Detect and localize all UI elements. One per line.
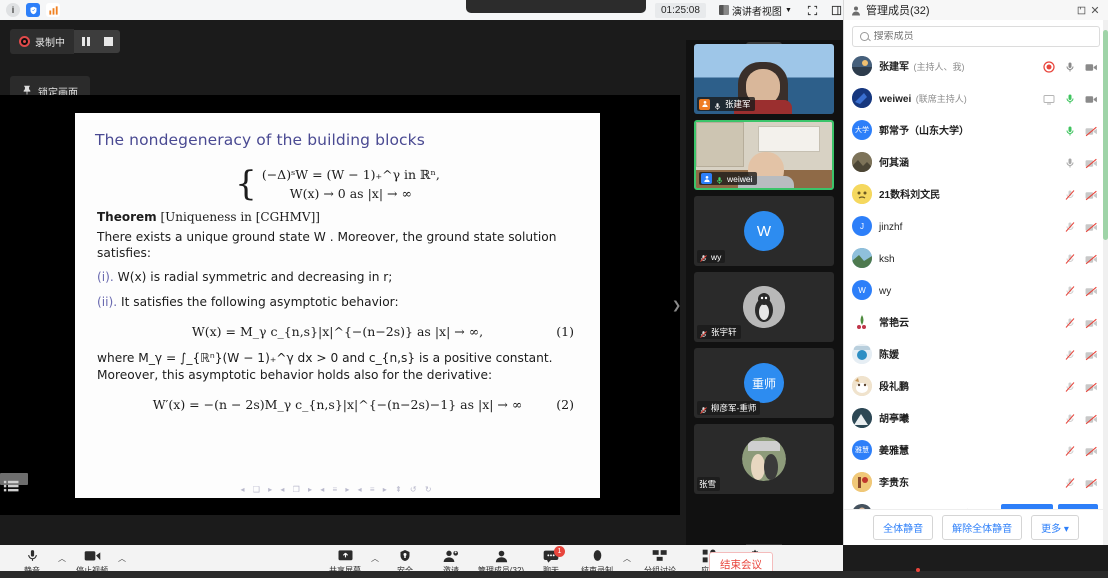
participants-scrollbar[interactable] <box>1103 20 1108 545</box>
record-dot-icon <box>1043 60 1056 73</box>
camera-on-icon[interactable] <box>1085 60 1098 73</box>
recording-options-chevron-up-icon[interactable]: ︿ <box>621 553 633 564</box>
system-equation: { (−Δ)ˢW = (W − 1)₊^γ in ℝⁿ, W(x) → 0 as… <box>97 166 578 204</box>
equation-1-tag: (1) <box>556 323 574 341</box>
theorem-item-1: (i). W(x) is radial symmetric and decrea… <box>97 269 578 287</box>
avatar <box>852 152 872 172</box>
participant-name: ksh <box>879 254 895 265</box>
mic-green-icon[interactable] <box>1064 124 1077 137</box>
camera-off-icon[interactable] <box>1085 348 1098 361</box>
video-thumb-4[interactable]: 重师 柳彦军-重师 <box>694 348 834 418</box>
thumb-label-1: weiwei <box>699 172 757 185</box>
camera-off-icon[interactable] <box>1085 124 1098 137</box>
participant-role: (联席主持人) <box>916 94 967 104</box>
info-icon[interactable]: i <box>6 3 20 17</box>
avatar <box>852 504 872 509</box>
table-row[interactable]: W wy <box>844 274 1108 306</box>
thumb-name-3: 张宇轩 <box>711 326 737 338</box>
thumb-label-4: 柳彦军-重师 <box>697 401 760 415</box>
video-thumb-1[interactable]: weiwei <box>694 120 834 190</box>
table-row[interactable]: 常艳云 <box>844 306 1108 338</box>
camera-off-icon[interactable] <box>1085 188 1098 201</box>
recording-status: 录制中 <box>10 29 74 54</box>
breakout-icon <box>652 548 668 564</box>
table-row[interactable]: 李勇勇(西北师范大学) 解除静音 更多 ▾ <box>844 498 1108 509</box>
participant-name-block: 段礼鹏 <box>879 377 1057 395</box>
camera-off-icon[interactable] <box>1085 444 1098 457</box>
pause-recording-button[interactable] <box>74 30 97 53</box>
item-2-marker: (ii). <box>97 295 117 309</box>
item-1-marker: (i). <box>97 270 114 284</box>
mic-off-icon[interactable] <box>1064 252 1077 265</box>
participant-name: 常艳云 <box>879 318 909 329</box>
layout-view-icon <box>719 5 729 15</box>
video-filmstrip: ︿ 张建军 <box>694 44 834 554</box>
mic-off-icon[interactable] <box>1064 220 1077 233</box>
share-screen-icon <box>337 548 354 564</box>
equation-1-row: W(x) = M_γ c_{n,s}|x|^{−(n−2s)} as |x| →… <box>97 323 578 341</box>
participants-icon <box>850 4 862 16</box>
participants-panel: 张建军 (主持人、我) weiwei (联席主持人) <box>843 20 1108 545</box>
avatar: J <box>852 216 872 236</box>
table-row[interactable]: J jinzhf <box>844 210 1108 242</box>
panel-more-label: 更多 <box>1041 524 1061 535</box>
share-screen-icon <box>1043 92 1056 105</box>
mic-off-icon <box>699 403 708 414</box>
search-wrapper <box>844 20 1108 50</box>
participant-name: 陈媛 <box>879 350 899 361</box>
table-row[interactable]: ksh <box>844 242 1108 274</box>
participant-name: 何其涵 <box>879 158 909 169</box>
participant-name-block: 陈媛 <box>879 345 1057 363</box>
mic-off-icon[interactable] <box>1064 188 1077 201</box>
cohost-badge-icon <box>701 173 712 184</box>
participant-name: 李贵东 <box>879 478 909 489</box>
chevron-down-icon: ▼ <box>785 7 792 14</box>
avatar <box>852 472 872 492</box>
table-row[interactable]: 何其涵 <box>844 146 1108 178</box>
unmute-button[interactable]: 解除静音 <box>1001 504 1053 509</box>
table-row[interactable]: 胡亭曦 <box>844 402 1108 434</box>
brace-icon: { <box>235 171 257 198</box>
table-row[interactable]: 大学 郭常予（山东大学） <box>844 114 1108 146</box>
thumb-avatar-4: 重师 <box>744 363 784 403</box>
mic-off-icon[interactable] <box>1064 476 1077 489</box>
participant-name: wy <box>879 286 891 297</box>
participant-icons <box>1043 60 1098 73</box>
outline-list-icon[interactable] <box>2 480 24 494</box>
browser-icon-group: i <box>0 3 60 17</box>
participant-name-block: 胡亭曦 <box>879 409 1057 427</box>
meeting-main-area: 录制中 锁定画面 The nondegeneracy of the buildi… <box>0 20 843 545</box>
participant-name: weiwei <box>879 94 911 105</box>
record-stop-icon <box>591 548 604 564</box>
recording-control-bar: 录制中 <box>10 29 120 54</box>
popout-icon[interactable] <box>1074 3 1088 17</box>
participant-name: jinzhf <box>879 222 902 233</box>
avatar <box>852 408 872 428</box>
camera-off-icon[interactable] <box>1085 380 1098 393</box>
theorem-heading: Theorem [Uniqueness in [CGHMV]] <box>97 209 578 226</box>
participant-icons <box>1064 188 1098 201</box>
avatar <box>852 248 872 268</box>
participants-panel-header: 管理成员(32) ✕ <box>843 0 1108 20</box>
table-row[interactable]: 李贵东 <box>844 466 1108 498</box>
shield-icon[interactable] <box>26 3 40 17</box>
participant-name-block: 李勇勇(西北师范大学) <box>879 505 994 509</box>
thumb-name-4: 柳彦军-重师 <box>711 402 756 414</box>
share-options-chevron-up-icon[interactable]: ︿ <box>369 553 381 564</box>
mic-active-icon <box>715 173 724 184</box>
stop-recording-button[interactable] <box>97 30 120 53</box>
avatar <box>852 184 872 204</box>
participant-icons <box>1064 476 1098 489</box>
item-2-text: It satisfies the following asymptotic be… <box>121 295 399 309</box>
equation-2: W′(x) = −(n − 2s)M_γ c_{n,s}|x|^{−(n−2s)… <box>153 397 523 412</box>
camera-off-icon[interactable] <box>1085 316 1098 329</box>
panel-title: 管理成员(32) <box>866 2 1074 18</box>
equation-line-1: (−Δ)ˢW = (W − 1)₊^γ in ℝⁿ, <box>262 166 440 185</box>
video-thumb-0[interactable]: 张建军 <box>694 44 834 114</box>
participant-name: 段礼鹏 <box>879 382 909 393</box>
where-paragraph: where M_γ = ∫_{ℝⁿ}(W − 1)₊^γ dx > 0 and … <box>97 350 578 384</box>
thumb-name-1: weiwei <box>727 174 753 184</box>
theorem-reference: [Uniqueness in [CGHMV]] <box>161 210 320 224</box>
participant-name-block: 常艳云 <box>879 313 1057 331</box>
participant-icons <box>1064 220 1098 233</box>
table-row[interactable]: 张建军 (主持人、我) <box>844 50 1108 82</box>
presentation-slide: The nondegeneracy of the building blocks… <box>75 113 600 498</box>
mute-all-button[interactable]: 全体静音 <box>873 515 933 540</box>
participant-icons <box>1064 316 1098 329</box>
thumb-avatar-5 <box>742 437 786 481</box>
recording-label: 录制中 <box>35 34 65 49</box>
participant-name-block: 姜雅慧 <box>879 441 1057 459</box>
pause-icon <box>82 37 90 46</box>
equation-2-row: W′(x) = −(n − 2s)M_γ c_{n,s}|x|^{−(n−2s)… <box>97 396 578 414</box>
theorem-label: Theorem <box>97 210 157 224</box>
meeting-top-controls: 01:25:08 演讲者视图 ▼ <box>655 0 845 20</box>
thumb-name-0: 张建军 <box>725 98 751 110</box>
participant-name-block: 21数科刘文民 <box>879 185 1057 203</box>
unmute-all-button[interactable]: 解除全体静音 <box>942 515 1022 540</box>
avatar <box>852 344 872 364</box>
participant-name-block: weiwei (联席主持人) <box>879 89 1036 107</box>
table-row[interactable]: 21数科刘文民 <box>844 178 1108 210</box>
participant-name: 胡亭曦 <box>879 414 909 425</box>
equation-2-tag: (2) <box>556 396 574 414</box>
thumb-label-3: 张宇轩 <box>697 325 741 339</box>
thumb-avatar-3 <box>743 286 785 328</box>
participant-icons <box>1064 412 1098 425</box>
item-1-text: W(x) is radial symmetric and decreasing … <box>118 270 393 284</box>
participant-icons <box>1064 444 1098 457</box>
video-thumb-2[interactable]: W wy <box>694 196 834 266</box>
participant-name: 21数科刘文民 <box>879 190 940 201</box>
collapse-filmstrip-chevron-icon[interactable]: ❯ <box>672 299 681 312</box>
participant-name-block: wy <box>879 281 1057 299</box>
avatar <box>852 376 872 396</box>
search-icon <box>860 32 869 41</box>
participant-name-block: 郭常予（山东大学） <box>879 121 1057 139</box>
slide-title: The nondegeneracy of the building blocks <box>75 113 600 149</box>
camera-off-icon[interactable] <box>1085 220 1098 233</box>
avatar <box>852 88 872 108</box>
participant-icons <box>1064 380 1098 393</box>
mic-muted-icon <box>713 99 722 110</box>
recording-actions <box>74 30 120 53</box>
mic-off-icon[interactable] <box>1064 316 1077 329</box>
participant-icons <box>1064 348 1098 361</box>
table-row[interactable]: 雅慧 姜雅慧 <box>844 434 1108 466</box>
table-row[interactable]: weiwei (联席主持人) <box>844 82 1108 114</box>
camera-icon <box>84 548 101 564</box>
close-icon[interactable]: ✕ <box>1088 3 1102 17</box>
audio-options-chevron-up-icon[interactable]: ︿ <box>56 553 68 564</box>
mic-off-icon[interactable] <box>1064 412 1077 425</box>
participant-name-block: 张建军 (主持人、我) <box>879 57 1036 75</box>
mic-on-icon[interactable] <box>1064 156 1077 169</box>
video-options-chevron-up-icon[interactable]: ︿ <box>116 553 128 564</box>
panel-more-button[interactable]: 更多 ▾ <box>1031 515 1079 540</box>
participants-icon <box>494 548 509 564</box>
avatar: 大学 <box>852 120 872 140</box>
shield-icon <box>399 548 411 564</box>
mic-off-icon <box>699 251 708 262</box>
stop-icon <box>104 37 113 46</box>
chat-unread-badge: 1 <box>554 546 565 557</box>
thumb-avatar-2: W <box>744 211 784 251</box>
shared-screen-area: The nondegeneracy of the building blocks… <box>0 95 680 515</box>
floating-top-bar <box>466 0 646 13</box>
avatar <box>852 56 872 76</box>
equation-line-2: W(x) → 0 as |x| → ∞ <box>262 185 440 204</box>
mic-off-icon[interactable] <box>1064 348 1077 361</box>
participant-role: (主持人、我) <box>913 62 964 72</box>
camera-off-icon[interactable] <box>1085 156 1098 169</box>
camera-off-icon[interactable] <box>1085 252 1098 265</box>
mic-green-icon[interactable] <box>1064 92 1077 105</box>
thumb-name-5: 张雪 <box>699 478 716 490</box>
participant-icons <box>1064 124 1098 137</box>
window-bottom-edge <box>0 571 1108 578</box>
status-dot-icon <box>916 568 920 572</box>
thumb-name-2: wy <box>711 252 721 262</box>
participant-name: 姜雅慧 <box>879 446 909 457</box>
camera-off-icon[interactable] <box>1085 476 1098 489</box>
chart-icon[interactable] <box>46 3 60 17</box>
table-row[interactable]: 段礼鹏 <box>844 370 1108 402</box>
thumb-label-0: 张建军 <box>697 97 755 111</box>
participant-name-block: ksh <box>879 249 1057 267</box>
participant-name: 张建军 <box>879 62 909 73</box>
camera-off-icon[interactable] <box>1085 412 1098 425</box>
mic-off-icon[interactable] <box>1064 444 1077 457</box>
mic-on-icon[interactable] <box>1064 60 1077 73</box>
view-mode-label: 演讲者视图 <box>732 3 782 18</box>
participant-icons <box>1064 284 1098 297</box>
slide-body: { (−Δ)ˢW = (W − 1)₊^γ in ℝⁿ, W(x) → 0 as… <box>75 149 600 414</box>
search-box[interactable] <box>852 26 1100 47</box>
search-input[interactable] <box>874 31 1092 42</box>
mic-off-icon[interactable] <box>1064 284 1077 297</box>
view-mode-selector[interactable]: 演讲者视图 ▼ <box>714 1 797 20</box>
equation-1: W(x) = M_γ c_{n,s}|x|^{−(n−2s)} as |x| →… <box>192 324 483 339</box>
avatar: W <box>852 280 872 300</box>
video-thumb-3[interactable]: 张宇轩 <box>694 272 834 342</box>
participant-name-block: 李贵东 <box>879 473 1057 491</box>
participant-name-block: jinzhf <box>879 217 1057 235</box>
mic-off-icon[interactable] <box>1064 380 1077 393</box>
more-button[interactable]: 更多 ▾ <box>1058 504 1098 509</box>
microphone-icon <box>26 548 39 564</box>
participant-name-block: 何其涵 <box>879 153 1057 171</box>
mic-off-icon <box>699 327 708 338</box>
video-thumb-5[interactable]: 张雪 <box>694 424 834 494</box>
system-equation-lines: (−Δ)ˢW = (W − 1)₊^γ in ℝⁿ, W(x) → 0 as |… <box>262 166 440 204</box>
meeting-timer: 01:25:08 <box>655 3 706 18</box>
participant-icons <box>1064 156 1098 169</box>
row-action-buttons: 解除静音 更多 ▾ <box>1001 504 1098 509</box>
participant-icons <box>1043 92 1098 105</box>
host-badge-icon <box>699 99 710 110</box>
camera-off-icon[interactable] <box>1085 284 1098 297</box>
theorem-item-2: (ii). It satisfies the following asympto… <box>97 294 578 312</box>
theorem-body: There exists a unique ground state W . M… <box>97 229 578 262</box>
table-row[interactable]: 陈媛 <box>844 338 1108 370</box>
beamer-navigation-bar[interactable]: ◂ ❑ ▸ ◂ ❐ ▸ ◂ ≡ ▸ ◂ ≡ ▸ ⇞ ↺ ↻ <box>75 485 600 494</box>
panel-footer: 全体静音 解除全体静音 更多 ▾ <box>844 509 1108 545</box>
participant-name: 郭常予（山东大学） <box>879 126 969 137</box>
participant-icons <box>1064 252 1098 265</box>
thumb-label-2: wy <box>697 250 725 263</box>
camera-on-icon[interactable] <box>1085 92 1098 105</box>
fullscreen-icon[interactable] <box>805 2 821 18</box>
participant-list[interactable]: 张建军 (主持人、我) weiwei (联席主持人) <box>844 50 1108 509</box>
thumb-label-5: 张雪 <box>697 477 720 491</box>
record-dot-icon <box>19 36 30 47</box>
avatar <box>852 312 872 332</box>
avatar: 雅慧 <box>852 440 872 460</box>
invite-icon <box>443 548 459 564</box>
